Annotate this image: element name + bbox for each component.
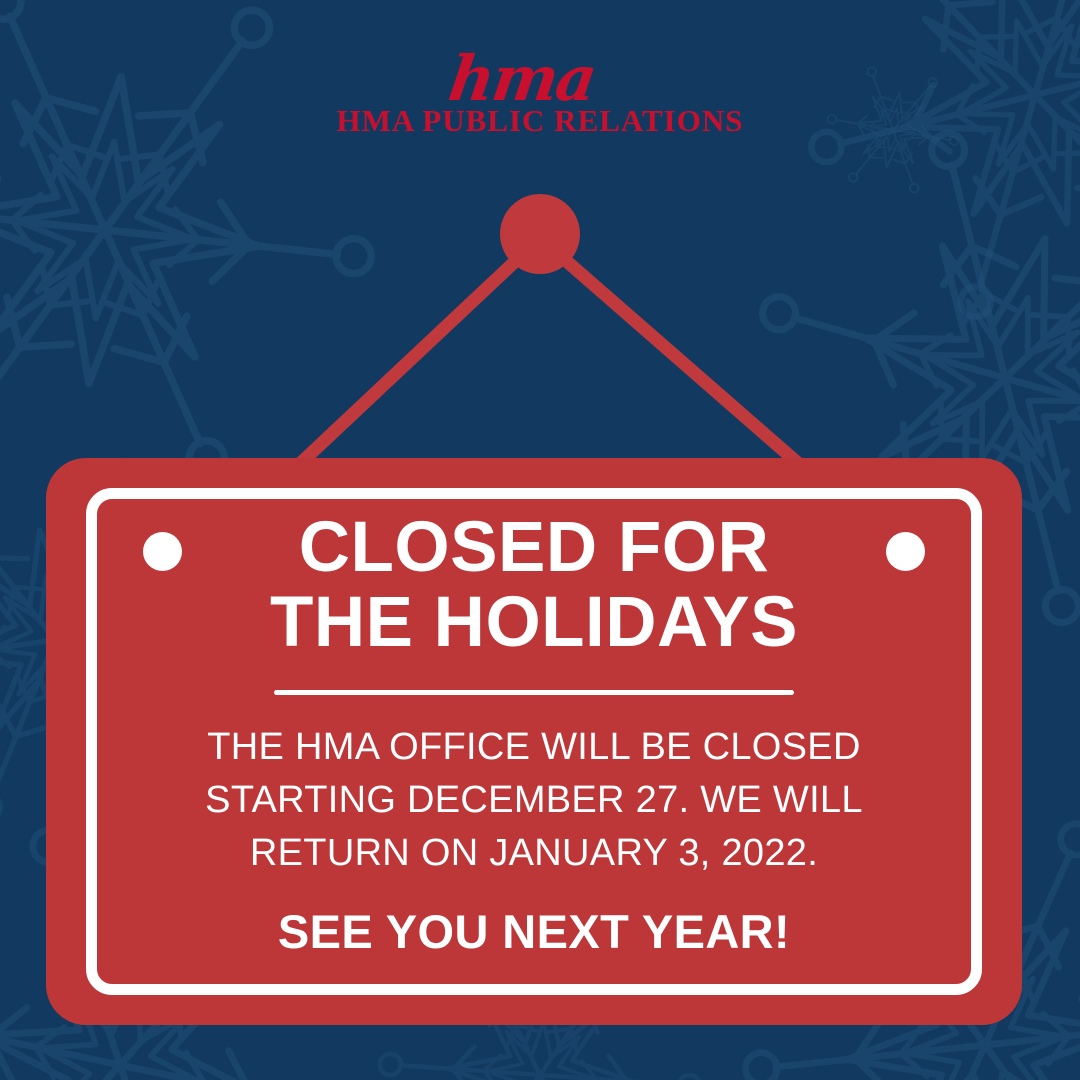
divider-rule xyxy=(274,690,794,695)
body-line-3: RETURN ON JANUARY 3, 2022. xyxy=(205,827,863,880)
body-line-2: STARTING DECEMBER 27. WE WILL xyxy=(205,774,863,827)
sign-signoff: SEE YOU NEXT YEAR! xyxy=(278,906,790,958)
headline-line-2: THE HOLIDAYS xyxy=(270,585,798,660)
sign-body-copy: THE HMA OFFICE WILL BE CLOSED STARTING D… xyxy=(205,721,863,880)
closed-sign-board: CLOSED FOR THE HOLIDAYS THE HMA OFFICE W… xyxy=(46,458,1022,1025)
nail-knob xyxy=(500,194,580,274)
poster-canvas: hma HMA PUBLIC RELATIONS CLOSED FOR THE … xyxy=(0,0,1080,1080)
sign-headline: CLOSED FOR THE HOLIDAYS xyxy=(270,510,798,660)
body-line-1: THE HMA OFFICE WILL BE CLOSED xyxy=(205,721,863,774)
sign-content: CLOSED FOR THE HOLIDAYS THE HMA OFFICE W… xyxy=(46,458,1022,1025)
hma-logo: hma HMA PUBLIC RELATIONS xyxy=(0,48,1080,138)
hma-script-logomark: hma xyxy=(0,48,1066,110)
headline-line-1: CLOSED FOR xyxy=(270,510,798,585)
